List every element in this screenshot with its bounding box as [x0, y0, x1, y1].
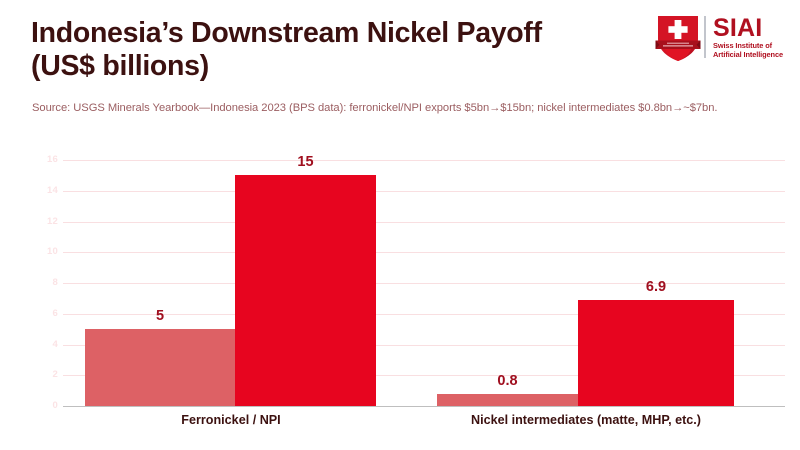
y-axis-tick-label: 10	[18, 247, 58, 257]
bar-chart: 0246810121416 515Ferronickel / NPI0.86.9…	[0, 140, 800, 450]
y-axis-tick-label: 8	[18, 278, 58, 288]
gridline	[63, 160, 785, 161]
gridline	[63, 191, 785, 192]
bar-value-label: 5	[65, 308, 255, 324]
page-title: Indonesia’s Downstream Nickel Payoff (US…	[31, 17, 631, 83]
y-axis-tick-label: 2	[18, 370, 58, 380]
logo-acronym: SIAI	[713, 16, 795, 40]
bar-before[interactable]	[437, 394, 578, 406]
y-axis-tick-label: 6	[18, 309, 58, 319]
y-axis-tick-label: 0	[18, 401, 58, 411]
bar-value-label: 15	[215, 154, 396, 170]
swiss-cross-shield-icon	[655, 12, 701, 62]
bar-after[interactable]	[235, 175, 376, 406]
y-axis: 0246810121416	[14, 160, 58, 406]
chart-source-note: Source: USGS Minerals Yearbook—Indonesia…	[32, 100, 762, 117]
gridline	[63, 252, 785, 253]
logo-wordmark: SIAI Swiss Institute of Artificial Intel…	[713, 15, 795, 59]
axis-baseline	[63, 406, 785, 407]
bar-before[interactable]	[85, 329, 235, 406]
y-axis-tick-label: 14	[18, 186, 58, 196]
logo-tagline: Swiss Institute of Artificial Intelligen…	[713, 41, 795, 59]
slide-header: Indonesia’s Downstream Nickel Payoff (US…	[0, 0, 800, 95]
bar-value-label: 0.8	[417, 373, 598, 389]
y-axis-tick-label: 12	[18, 217, 58, 227]
x-axis-category-label: Nickel intermediates (matte, MHP, etc.)	[366, 412, 800, 428]
y-axis-tick-label: 16	[18, 155, 58, 165]
bar-after[interactable]	[578, 300, 734, 406]
slide-canvas: Indonesia’s Downstream Nickel Payoff (US…	[0, 0, 800, 450]
siai-logo: SIAI Swiss Institute of Artificial Intel…	[655, 11, 795, 63]
gridline	[63, 222, 785, 223]
bar-value-label: 6.9	[558, 279, 754, 295]
logo-divider	[704, 16, 706, 58]
y-axis-tick-label: 4	[18, 340, 58, 350]
